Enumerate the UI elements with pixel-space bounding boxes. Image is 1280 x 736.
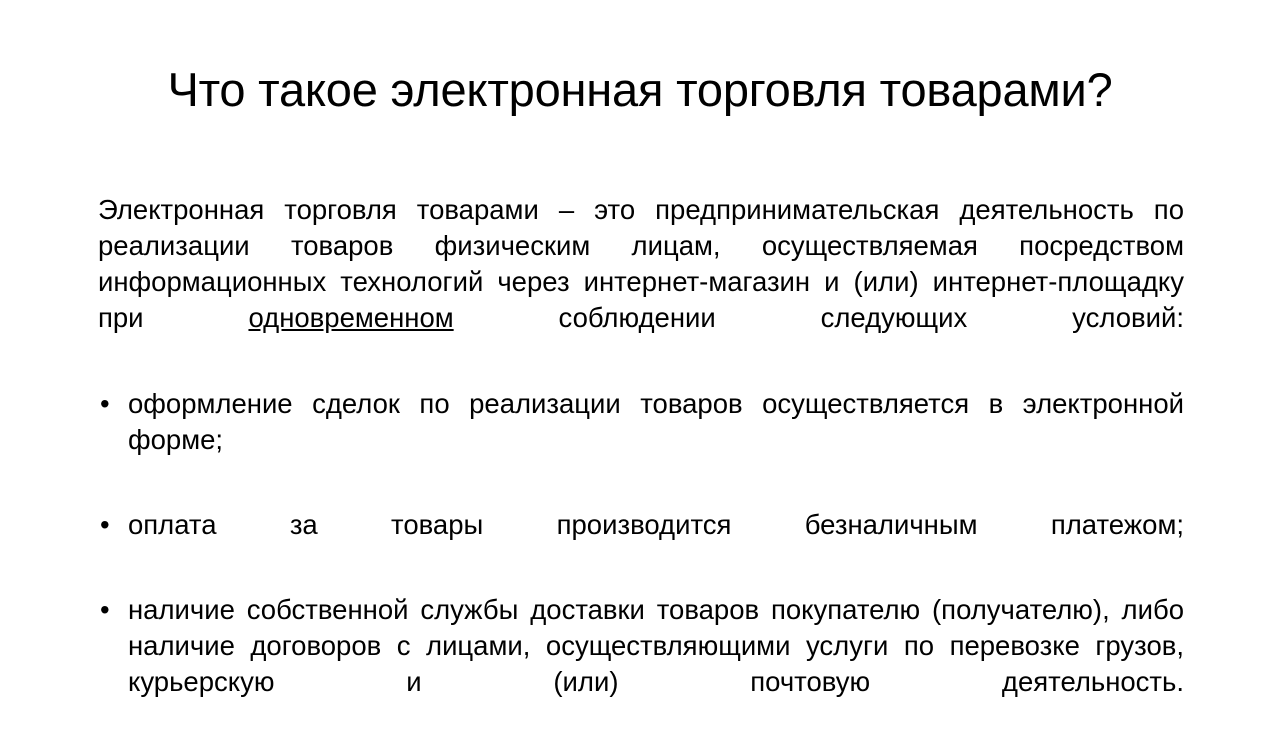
bullet-icon: • [100, 592, 120, 628]
list-item: •оплата за товары производится безналичн… [98, 507, 1184, 579]
slide-title-placeholder: Что такое электронная торговля товарами? [64, 62, 1216, 118]
intro-paragraph: Электронная торговля товарами – это пред… [98, 192, 1184, 372]
list-item-label: наличие собственной службы доставки това… [128, 594, 1184, 697]
intro-paragraph-underlined-term: одновременном [248, 302, 453, 333]
list-item: •наличие собственной службы доставки тов… [98, 592, 1184, 736]
list-item-label: оформление сделок по реализации товаров … [128, 388, 1184, 455]
bullet-icon: • [100, 386, 120, 422]
list-item-label: оплата за товары производится безналичны… [128, 509, 1184, 540]
bullet-icon: • [100, 507, 120, 543]
intro-paragraph-part-2: соблюдении следующих условий: [454, 302, 1184, 333]
list-item: •оформление сделок по реализации товаров… [98, 386, 1184, 494]
page-title: Что такое электронная торговля товарами? [64, 62, 1216, 118]
slide-content-placeholder: Электронная торговля товарами – это пред… [98, 192, 1184, 736]
conditions-bullet-list: •оформление сделок по реализации товаров… [98, 386, 1184, 736]
presentation-slide: Что такое электронная торговля товарами?… [0, 0, 1280, 720]
